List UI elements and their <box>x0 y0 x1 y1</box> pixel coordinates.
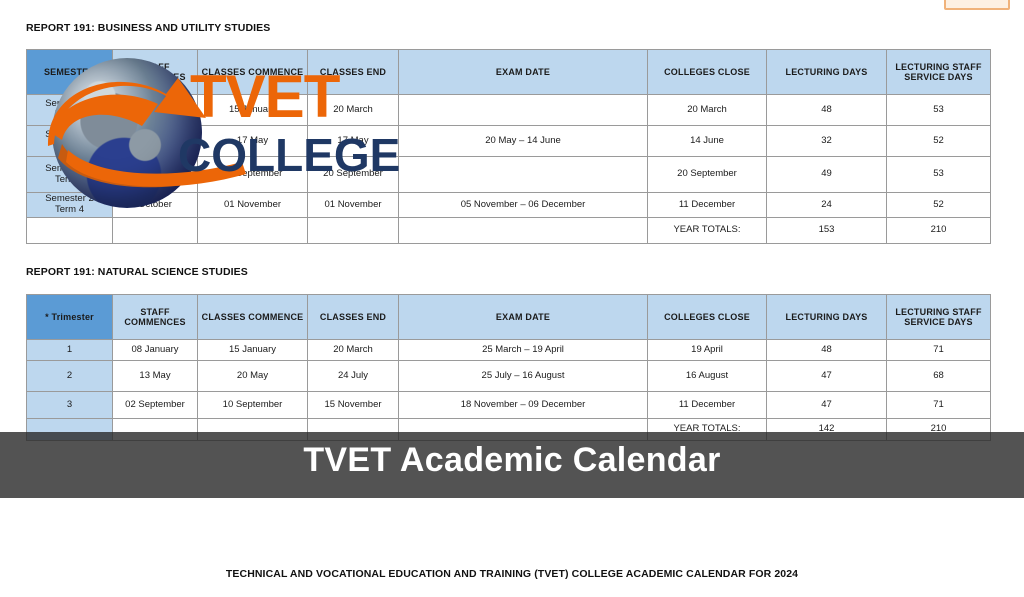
cell-semester: Semester 2 Term 3 <box>27 157 113 193</box>
cell-classes-commence: 10 September <box>198 392 308 419</box>
col-header-exam-date: EXAM DATE <box>399 295 648 340</box>
term-label: Term 3 <box>55 174 84 185</box>
col-header-classes-end: CLASSES END <box>308 50 399 95</box>
cell-lecturing-days: 48 <box>767 340 887 361</box>
cell-lecturing-days: 47 <box>767 392 887 419</box>
table-header-row: * Trimester STAFF COMMENCES CLASSES COMM… <box>27 295 991 340</box>
cell-exam-date: 18 November – 09 December <box>399 392 648 419</box>
cell-exam-date: 25 March – 19 April <box>399 340 648 361</box>
term-label: Term 2 <box>55 140 84 151</box>
cell-staff-commences: 02 September <box>113 392 198 419</box>
cell-colleges-close: 11 December <box>648 392 767 419</box>
cell-exam-date: 05 November – 06 December <box>399 193 648 218</box>
cell-classes-commence: 15 January <box>198 95 308 126</box>
cell-classes-end: 24 July <box>308 361 399 392</box>
cell-classes-commence: 15 January <box>198 340 308 361</box>
semester-label: Semester 2 <box>45 163 94 174</box>
top-right-fragment <box>944 0 1010 10</box>
col-header-trimester: * Trimester <box>27 295 113 340</box>
cell-staff-service-days: 52 <box>887 126 991 157</box>
cell-colleges-close: 11 December <box>648 193 767 218</box>
col-header-lecturing-days: LECTURING DAYS <box>767 295 887 340</box>
table-row: Semester 2 Term 4 October 01 November 01… <box>27 193 991 218</box>
col-header-classes-commence: CLASSES COMMENCE <box>198 50 308 95</box>
col-header-classes-end: CLASSES END <box>308 295 399 340</box>
table-row: Semester 2 Term 3 15 July 20 September 2… <box>27 157 991 193</box>
cell-trimester: 3 <box>27 392 113 419</box>
cell-empty <box>27 218 113 244</box>
cell-exam-date <box>399 157 648 193</box>
table-row: Semester 1 Term 2 03 April 17 May 17 May… <box>27 126 991 157</box>
cell-staff-commences: October <box>113 193 198 218</box>
cell-empty <box>198 218 308 244</box>
cell-classes-commence: 17 May <box>198 126 308 157</box>
col-header-colleges-close: COLLEGES CLOSE <box>648 50 767 95</box>
cell-staff-service-days: 68 <box>887 361 991 392</box>
document-page: REPORT 191: BUSINESS AND UTILITY STUDIES… <box>0 0 1024 597</box>
totals-label: YEAR TOTALS: <box>648 218 767 244</box>
cell-colleges-close: 20 March <box>648 95 767 126</box>
table-natural-science-studies: * Trimester STAFF COMMENCES CLASSES COMM… <box>26 294 991 441</box>
cell-trimester: 1 <box>27 340 113 361</box>
semester-label: Semester 2 <box>45 193 94 204</box>
cell-semester: Semester 2 Term 4 <box>27 193 113 218</box>
cell-colleges-close: 19 April <box>648 340 767 361</box>
cell-staff-commences: 08 January <box>113 95 198 126</box>
cell-staff-service-days: 71 <box>887 340 991 361</box>
cell-classes-end: 20 September <box>308 157 399 193</box>
document-bottom-caption: TECHNICAL AND VOCATIONAL EDUCATION AND T… <box>0 568 1024 580</box>
cell-lecturing-days: 48 <box>767 95 887 126</box>
cell-exam-date: 25 July – 16 August <box>399 361 648 392</box>
cell-lecturing-days: 47 <box>767 361 887 392</box>
cell-classes-end: 20 March <box>308 340 399 361</box>
cell-semester: Semester 1 Term 1 <box>27 95 113 126</box>
table-totals-row: YEAR TOTALS: 153 210 <box>27 218 991 244</box>
cell-trimester: 2 <box>27 361 113 392</box>
cell-staff-commences: 13 May <box>113 361 198 392</box>
cell-semester: Semester 1 Term 2 <box>27 126 113 157</box>
cell-staff-service-days: 71 <box>887 392 991 419</box>
cell-empty <box>308 218 399 244</box>
col-header-exam-date: EXAM DATE <box>399 50 648 95</box>
cell-staff-service-days: 53 <box>887 95 991 126</box>
col-header-colleges-close: COLLEGES CLOSE <box>648 295 767 340</box>
cell-lecturing-days: 32 <box>767 126 887 157</box>
semester-label: Semester 1 <box>45 129 94 140</box>
cell-lecturing-days: 24 <box>767 193 887 218</box>
col-header-lecturing-days: LECTURING DAYS <box>767 50 887 95</box>
overlay-title: TVET Academic Calendar <box>0 441 1024 480</box>
table-row: 2 13 May 20 May 24 July 25 July – 16 Aug… <box>27 361 991 392</box>
cell-staff-service-days: 53 <box>887 157 991 193</box>
cell-classes-commence: 20 September <box>198 157 308 193</box>
col-header-staff-commences: STAFF COMMENCES <box>113 50 198 95</box>
totals-staff-service-days: 210 <box>887 218 991 244</box>
term-label: Term 1 <box>55 109 84 120</box>
cell-staff-commences: 08 January <box>113 340 198 361</box>
cell-classes-end: 01 November <box>308 193 399 218</box>
cell-staff-service-days: 52 <box>887 193 991 218</box>
cell-lecturing-days: 49 <box>767 157 887 193</box>
cell-exam-date <box>399 95 648 126</box>
totals-lecturing-days: 153 <box>767 218 887 244</box>
cell-staff-commences: 03 April <box>113 126 198 157</box>
col-header-staff-commences: STAFF COMMENCES <box>113 295 198 340</box>
report-title-natural-science: REPORT 191: NATURAL SCIENCE STUDIES <box>26 266 248 278</box>
term-label: Term 4 <box>55 204 84 215</box>
semester-label: Semester 1 <box>45 98 94 109</box>
cell-classes-commence: 20 May <box>198 361 308 392</box>
cell-colleges-close: 20 September <box>648 157 767 193</box>
table-header-row: SEMESTER STAFF COMMENCES CLASSES COMMENC… <box>27 50 991 95</box>
col-header-semester: SEMESTER <box>27 50 113 95</box>
table-row: 1 08 January 15 January 20 March 25 Marc… <box>27 340 991 361</box>
table-business-utility-studies: SEMESTER STAFF COMMENCES CLASSES COMMENC… <box>26 49 991 244</box>
cell-classes-end: 15 November <box>308 392 399 419</box>
cell-staff-commences: 15 July <box>113 157 198 193</box>
table-row: 3 02 September 10 September 15 November … <box>27 392 991 419</box>
cell-classes-end: 17 May <box>308 126 399 157</box>
report-title-business: REPORT 191: BUSINESS AND UTILITY STUDIES <box>26 22 270 34</box>
table-row: Semester 1 Term 1 08 January 15 January … <box>27 95 991 126</box>
cell-exam-date: 20 May – 14 June <box>399 126 648 157</box>
col-header-staff-service-days: LECTURING STAFF SERVICE DAYS <box>887 50 991 95</box>
cell-classes-end: 20 March <box>308 95 399 126</box>
cell-classes-commence: 01 November <box>198 193 308 218</box>
col-header-staff-service-days: LECTURING STAFF SERVICE DAYS <box>887 295 991 340</box>
cell-empty <box>399 218 648 244</box>
cell-colleges-close: 16 August <box>648 361 767 392</box>
cell-colleges-close: 14 June <box>648 126 767 157</box>
col-header-classes-commence: CLASSES COMMENCE <box>198 295 308 340</box>
cell-empty <box>113 218 198 244</box>
